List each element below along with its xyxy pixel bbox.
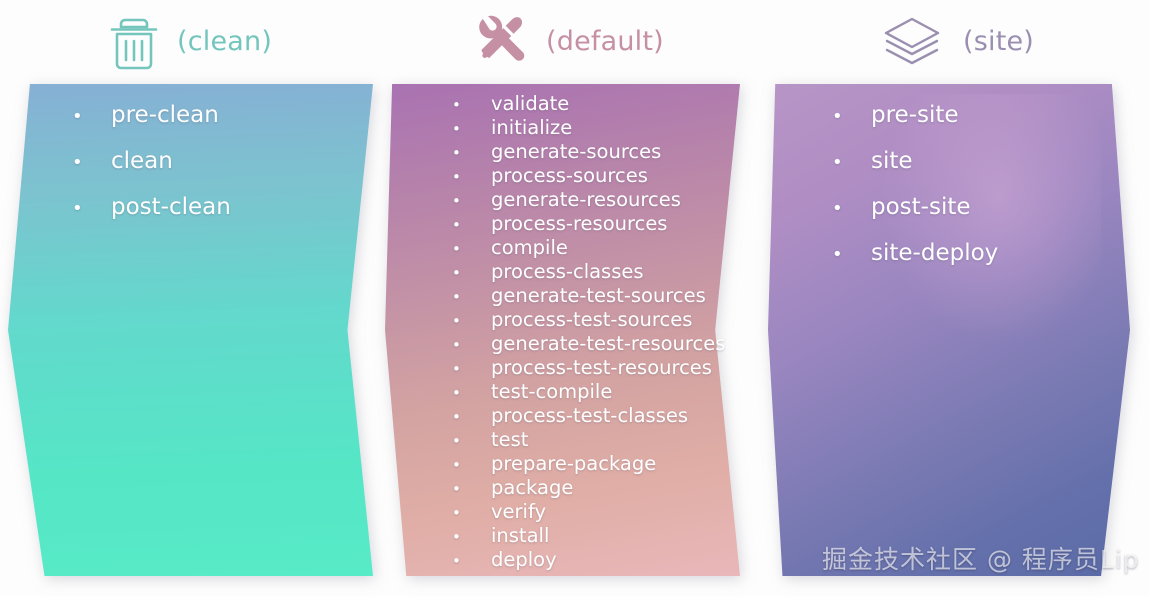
phase-item: •process-resources (452, 212, 725, 236)
bullet-icon: • (832, 154, 856, 172)
phase-item: •process-test-classes (452, 404, 725, 428)
bullet-icon: • (452, 194, 476, 209)
bullet-icon: • (452, 98, 476, 113)
bullet-icon: • (452, 218, 476, 233)
phase-item-label: generate-test-sources (491, 284, 706, 307)
bullet-icon: • (452, 482, 476, 497)
phase-item-label: process-sources (491, 164, 648, 187)
bullet-icon: • (452, 290, 476, 305)
phase-item: •site (832, 148, 998, 194)
phase-item-label: pre-site (871, 102, 959, 128)
phase-item-label: install (491, 524, 549, 547)
phase-item: •test (452, 428, 725, 452)
phase-item: •post-site (832, 194, 998, 240)
watermark: 掘金技术社区 @ 程序员Lip (822, 540, 1140, 576)
phase-item-label: site-deploy (871, 240, 998, 266)
phase-item: •prepare-package (452, 452, 725, 476)
bullet-icon: • (832, 200, 856, 218)
bullet-icon: • (452, 146, 476, 161)
bullet-icon: • (832, 246, 856, 264)
bullet-icon: • (452, 170, 476, 185)
phase-item: •process-classes (452, 260, 725, 284)
bullet-icon: • (452, 410, 476, 425)
phase-item: •process-sources (452, 164, 725, 188)
phase-item-label: generate-test-resources (491, 332, 725, 355)
phase-item: •install (452, 524, 725, 548)
phase-item-label: validate (491, 92, 569, 115)
phase-item-label: process-test-resources (491, 356, 712, 379)
bullet-icon: • (72, 200, 96, 218)
phase-item: •initialize (452, 116, 725, 140)
bullet-icon: • (452, 530, 476, 545)
bullet-icon: • (452, 386, 476, 401)
bullet-icon: • (832, 108, 856, 126)
header-default-label: (default) (546, 26, 664, 57)
bullet-icon: • (452, 338, 476, 353)
phase-item: •validate (452, 92, 725, 116)
phase-item: •pre-site (832, 102, 998, 148)
phase-item-label: initialize (491, 116, 572, 139)
phase-item: •generate-sources (452, 140, 725, 164)
phase-item-label: pre-clean (111, 102, 219, 128)
phase-item-label: generate-resources (491, 188, 681, 211)
phase-item: •generate-test-sources (452, 284, 725, 308)
phase-item-label: package (491, 476, 573, 499)
layers-icon (875, 10, 949, 72)
phase-list-site: •pre-site•site•post-site•site-deploy (832, 102, 998, 286)
bullet-icon: • (452, 122, 476, 137)
phase-item-label: post-clean (111, 194, 231, 220)
phase-item: •deploy (452, 548, 725, 572)
bullet-icon: • (452, 314, 476, 329)
phase-list-default: •validate•initialize•generate-sources•pr… (452, 92, 725, 572)
bullet-icon: • (452, 554, 476, 569)
phase-item-label: clean (111, 148, 173, 174)
phase-item-label: test-compile (491, 380, 612, 403)
phase-item-label: deploy (491, 548, 557, 571)
header-default: (default) (470, 0, 664, 82)
phase-item-label: post-site (871, 194, 971, 220)
phase-item: •package (452, 476, 725, 500)
phase-item: •verify (452, 500, 725, 524)
bullet-icon: • (452, 506, 476, 521)
phase-item-label: test (491, 428, 528, 451)
phase-item-label: process-resources (491, 212, 667, 235)
bullet-icon: • (452, 362, 476, 377)
phase-item: •clean (72, 148, 231, 194)
bullet-icon: • (452, 458, 476, 473)
phase-item: •generate-resources (452, 188, 725, 212)
phase-item: •test-compile (452, 380, 725, 404)
header-site: (site) (875, 0, 1034, 82)
header-clean-label: (clean) (177, 26, 272, 57)
trash-can-icon (105, 10, 163, 72)
header-clean: (clean) (105, 0, 272, 82)
phase-item-label: process-test-sources (491, 308, 692, 331)
bullet-icon: • (72, 154, 96, 172)
phase-item-label: site (871, 148, 913, 174)
phase-item: •process-test-resources (452, 356, 725, 380)
phase-item: •pre-clean (72, 102, 231, 148)
phase-item: •compile (452, 236, 725, 260)
phase-item: •post-clean (72, 194, 231, 240)
phase-item-label: verify (491, 500, 546, 523)
phase-item: •process-test-sources (452, 308, 725, 332)
bullet-icon: • (452, 242, 476, 257)
phase-item: •site-deploy (832, 240, 998, 286)
phase-item-label: prepare-package (491, 452, 656, 475)
phase-item-label: process-test-classes (491, 404, 688, 427)
diagram-canvas: (clean) (default) (site) (0, 0, 1149, 596)
phase-item: •generate-test-resources (452, 332, 725, 356)
phase-item-label: generate-sources (491, 140, 661, 163)
bullet-icon: • (452, 434, 476, 449)
header-site-label: (site) (963, 26, 1034, 57)
phase-item-label: process-classes (491, 260, 644, 283)
phase-list-clean: •pre-clean•clean•post-clean (72, 102, 231, 240)
tools-icon (470, 10, 532, 72)
bullet-icon: • (72, 108, 96, 126)
phase-item-label: compile (491, 236, 568, 259)
bullet-icon: • (452, 266, 476, 281)
